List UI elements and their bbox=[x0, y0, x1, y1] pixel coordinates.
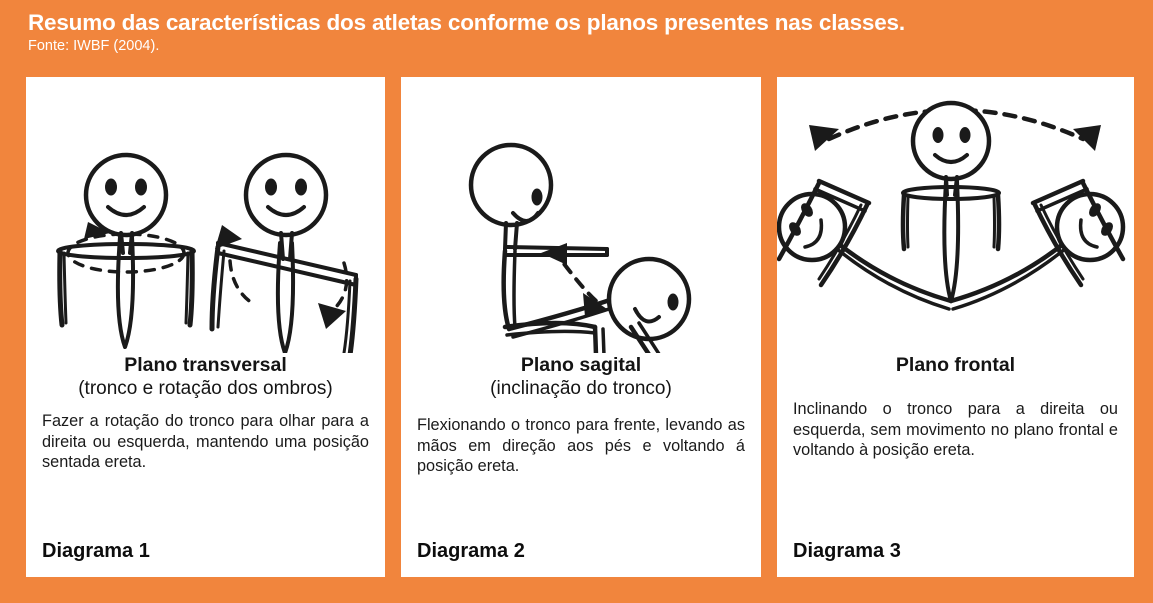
plane-subtitle-1: (tronco e rotação dos ombros) bbox=[38, 376, 373, 401]
stick-figure-tilted-right bbox=[951, 181, 1123, 309]
illustration-plano-transversal bbox=[26, 77, 385, 353]
header: Resumo das características dos atletas c… bbox=[28, 10, 1138, 55]
plane-description-3: Inclinando o tronco para a direita ou es… bbox=[789, 399, 1122, 461]
source-credit: Fonte: IWBF (2004). bbox=[28, 37, 1138, 55]
stick-figure-front-shoulders-rotated bbox=[212, 155, 356, 353]
panel-diagrama-3[interactable]: Plano frontal Inclinando o tronco para a… bbox=[777, 77, 1134, 577]
plane-name-1: Plano transversal bbox=[38, 353, 373, 377]
panel-diagrama-1[interactable]: Plano transversal (tronco e rotação dos … bbox=[26, 77, 385, 577]
stick-figure-tilted-left bbox=[779, 181, 951, 309]
page-title: Resumo das características dos atletas c… bbox=[28, 10, 1138, 36]
caption-block-2: Plano sagital (inclinação do tronco) Fle… bbox=[401, 353, 761, 477]
rotation-dashed-ellipse bbox=[68, 234, 184, 272]
stick-figure-front-upright bbox=[58, 155, 194, 347]
caption-block-1: Plano transversal (tronco e rotação dos … bbox=[26, 353, 385, 473]
diagram-label-2: Diagrama 2 bbox=[401, 540, 541, 563]
caption-block-3: Plano frontal Inclinando o tronco para a… bbox=[777, 353, 1134, 461]
rotation-arrowhead-down bbox=[318, 303, 346, 329]
illustration-plano-sagital bbox=[401, 77, 761, 353]
plane-description-2: Flexionando o tronco para frente, levand… bbox=[413, 415, 749, 477]
infographic-root: Resumo das características dos atletas c… bbox=[0, 0, 1153, 603]
plane-name-2: Plano sagital bbox=[413, 353, 749, 377]
plane-name-3: Plano frontal bbox=[789, 353, 1122, 377]
stick-figure-front-upright-center bbox=[903, 103, 999, 301]
diagram-label-1: Diagrama 1 bbox=[26, 540, 166, 563]
stick-figures-sagital-svg bbox=[401, 77, 761, 353]
stick-figures-transversal-svg bbox=[26, 77, 385, 353]
plane-description-1: Fazer a rotação do tronco para olhar par… bbox=[38, 411, 373, 473]
plane-subtitle-2: (inclinação do tronco) bbox=[413, 376, 749, 401]
rotation-dashed-arc-left bbox=[230, 261, 252, 303]
panel-row: Plano transversal (tronco e rotação dos … bbox=[26, 77, 1134, 577]
diagram-label-3: Diagrama 3 bbox=[777, 540, 917, 563]
tilt-arrowhead-right bbox=[1073, 125, 1101, 151]
illustration-plano-frontal bbox=[777, 77, 1134, 353]
stick-figures-frontal-svg bbox=[777, 77, 1134, 353]
panel-diagrama-2[interactable]: Plano sagital (inclinação do tronco) Fle… bbox=[401, 77, 761, 577]
